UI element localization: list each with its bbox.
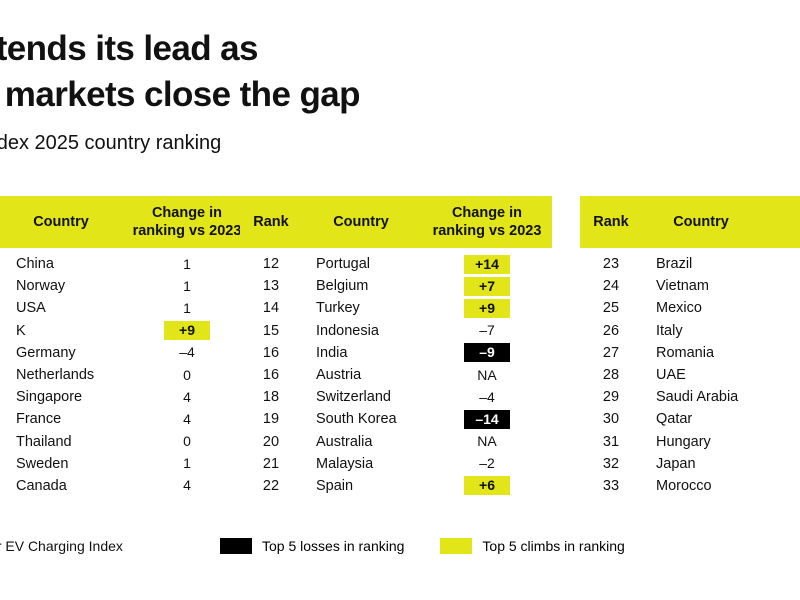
cell-country: Mexico (642, 300, 762, 316)
table-row: Thailand0 (0, 431, 252, 453)
change-badge: +9 (164, 321, 210, 340)
legend-item-climbs: Top 5 climbs in ranking (440, 538, 624, 554)
ranking-table-3: Rank Country Ch rankin 23Brazil24Vietnam… (580, 196, 800, 497)
cell-rank: 27 (580, 345, 642, 361)
cell-rank: 14 (240, 300, 302, 316)
legend-label-losses: Top 5 losses in ranking (262, 538, 404, 554)
cell-country: Malaysia (302, 456, 422, 472)
table-row: 24Vietnam (580, 275, 800, 297)
change-badge: +7 (464, 277, 510, 296)
cell-rank: 13 (240, 278, 302, 294)
cell-rank: 23 (580, 256, 642, 272)
change-value: NA (464, 366, 510, 385)
cell-change: –9 (422, 343, 552, 362)
cell-rank: 30 (580, 411, 642, 427)
column-header-country: Country (642, 213, 762, 231)
table-row: 26Italy (580, 320, 800, 342)
cell-country: Brazil (642, 256, 762, 272)
legend-swatch-losses-icon (220, 538, 252, 554)
cell-country: USA (2, 300, 122, 316)
change-value: 1 (164, 255, 210, 274)
column-header-change-line1: Ch (764, 204, 800, 222)
table-row: USA1 (0, 297, 252, 319)
cell-country: Spain (302, 478, 422, 494)
table-row: China1 (0, 253, 252, 275)
cell-country: UAE (642, 367, 762, 383)
cell-country: Saudi Arabia (642, 389, 762, 405)
cell-change: 0 (122, 366, 252, 385)
table-row: 12Portugal+14 (240, 253, 552, 275)
table-row: 25Mexico (580, 297, 800, 319)
cell-country: Qatar (642, 411, 762, 427)
legend-label-climbs: Top 5 climbs in ranking (482, 538, 624, 554)
cell-country: Austria (302, 367, 422, 383)
cell-change: –2 (422, 454, 552, 473)
table-row: 20AustraliaNA (240, 431, 552, 453)
cell-country: Australia (302, 434, 422, 450)
cell-change: –14 (422, 410, 552, 429)
column-header-change-line1: Change in (424, 204, 550, 222)
table-row: Netherlands0 (0, 364, 252, 386)
cell-country: Turkey (302, 300, 422, 316)
column-header-rank: Rank (240, 213, 302, 231)
table-row: 23Brazil (580, 253, 800, 275)
cell-country: Portugal (302, 256, 422, 272)
subheadline: rging Index 2025 country ranking (0, 132, 800, 155)
table-row: 28UAE (580, 364, 800, 386)
cell-country: Morocco (642, 478, 762, 494)
cell-country: Belgium (302, 278, 422, 294)
cell-rank: 33 (580, 478, 642, 494)
table-body-2: 12Portugal+1413Belgium+714Turkey+915Indo… (240, 253, 552, 497)
cell-change: 1 (122, 255, 252, 274)
table-body-3: 23Brazil24Vietnam25Mexico26Italy27Romani… (580, 253, 800, 497)
column-header-change: Ch rankin (762, 204, 800, 240)
change-value: 0 (164, 366, 210, 385)
cell-change: 4 (122, 476, 252, 495)
column-header-change: Change in ranking vs 2023 (122, 204, 252, 240)
cell-rank: 29 (580, 389, 642, 405)
ranking-tables: Rank Country Change in ranking vs 2023 C… (0, 196, 800, 516)
cell-rank: 20 (240, 434, 302, 450)
legend-swatch-climbs-icon (440, 538, 472, 554)
change-badge: –14 (464, 410, 510, 429)
cell-country: Norway (2, 278, 122, 294)
table-row: 27Romania (580, 342, 800, 364)
cell-rank: 12 (240, 256, 302, 272)
cell-country: Canada (2, 478, 122, 494)
cell-change: –7 (422, 321, 552, 340)
cell-country: Sweden (2, 456, 122, 472)
table-row: 31Hungary (580, 431, 800, 453)
cell-change: +7 (422, 277, 552, 296)
table-row: 30Qatar (580, 408, 800, 430)
cell-rank: 32 (580, 456, 642, 472)
table-row: France4 (0, 408, 252, 430)
source-note: nd Berger EV Charging Index (0, 538, 220, 554)
cell-change: NA (422, 366, 552, 385)
cell-rank: 18 (240, 389, 302, 405)
table-row: 18Switzerland–4 (240, 386, 552, 408)
legend-item-losses: Top 5 losses in ranking (220, 538, 404, 554)
table-row: Canada4 (0, 475, 252, 497)
footer: nd Berger EV Charging Index Top 5 losses… (0, 538, 800, 554)
header-block: a extends its lead as rger markets close… (0, 26, 800, 155)
table-row: 32Japan (580, 453, 800, 475)
change-value: 4 (164, 476, 210, 495)
table-row: Germany–4 (0, 342, 252, 364)
table-row: 33Morocco (580, 475, 800, 497)
change-value: –7 (464, 321, 510, 340)
cell-change: 1 (122, 299, 252, 318)
table-header-row: Rank Country Ch rankin (580, 196, 800, 248)
cell-rank: 16 (240, 345, 302, 361)
table-header-row: Rank Country Change in ranking vs 2023 (240, 196, 552, 248)
change-value: 1 (164, 277, 210, 296)
column-header-change-line1: Change in (124, 204, 250, 222)
cell-rank: 24 (580, 278, 642, 294)
cell-rank: 25 (580, 300, 642, 316)
cell-country: Romania (642, 345, 762, 361)
table-row: Norway1 (0, 275, 252, 297)
column-header-country: Country (302, 213, 422, 231)
cell-change: 1 (122, 277, 252, 296)
cell-change: +9 (122, 321, 252, 340)
table-row: 15Indonesia–7 (240, 320, 552, 342)
ranking-table-1: Rank Country Change in ranking vs 2023 C… (0, 196, 252, 497)
change-value: 1 (164, 299, 210, 318)
change-value: –4 (464, 388, 510, 407)
cell-country: Vietnam (642, 278, 762, 294)
table-row: Singapore4 (0, 386, 252, 408)
change-badge: –9 (464, 343, 510, 362)
cell-country: India (302, 345, 422, 361)
ranking-table-2: Rank Country Change in ranking vs 2023 1… (240, 196, 552, 497)
cell-change: 4 (122, 388, 252, 407)
table-row: 22Spain+6 (240, 475, 552, 497)
change-badge: +9 (464, 299, 510, 318)
cell-rank: 28 (580, 367, 642, 383)
cell-country: Italy (642, 323, 762, 339)
column-header-change-line2: ranking vs 2023 (124, 222, 250, 240)
table-row: 19South Korea–14 (240, 408, 552, 430)
cell-country: Germany (2, 345, 122, 361)
cell-change: –4 (122, 343, 252, 362)
table-row: Sweden1 (0, 453, 252, 475)
table-row: 13Belgium+7 (240, 275, 552, 297)
cell-country: Switzerland (302, 389, 422, 405)
change-value: –4 (164, 343, 210, 362)
cell-country: Japan (642, 456, 762, 472)
change-badge: +6 (464, 476, 510, 495)
cell-rank: 22 (240, 478, 302, 494)
cell-change: –4 (422, 388, 552, 407)
column-header-change-line2: rankin (764, 222, 800, 240)
change-badge: +14 (464, 255, 510, 274)
cell-change: 0 (122, 432, 252, 451)
table-row: 29Saudi Arabia (580, 386, 800, 408)
cell-change: 4 (122, 410, 252, 429)
change-value: 1 (164, 454, 210, 473)
table-row: 16AustriaNA (240, 364, 552, 386)
column-header-country: Country (2, 213, 122, 231)
cell-rank: 21 (240, 456, 302, 472)
cell-rank: 31 (580, 434, 642, 450)
cell-rank: 15 (240, 323, 302, 339)
table-row: 14Turkey+9 (240, 297, 552, 319)
change-value: 0 (164, 432, 210, 451)
cell-country: South Korea (302, 411, 422, 427)
cell-change: +14 (422, 255, 552, 274)
change-value: NA (464, 432, 510, 451)
cell-country: Hungary (642, 434, 762, 450)
change-value: –2 (464, 454, 510, 473)
cell-change: +6 (422, 476, 552, 495)
cell-country: China (2, 256, 122, 272)
headline-line-1: a extends its lead as (0, 26, 800, 72)
cell-country: Netherlands (2, 367, 122, 383)
cell-country: K (2, 323, 122, 339)
cell-rank: 26 (580, 323, 642, 339)
change-value: 4 (164, 410, 210, 429)
cell-country: Thailand (2, 434, 122, 450)
cell-rank: 16 (240, 367, 302, 383)
cell-country: Singapore (2, 389, 122, 405)
cell-country: Indonesia (302, 323, 422, 339)
table-row: K+9 (0, 320, 252, 342)
table-row: 21Malaysia–2 (240, 453, 552, 475)
change-value: 4 (164, 388, 210, 407)
cell-change: NA (422, 432, 552, 451)
table-header-row: Rank Country Change in ranking vs 2023 (0, 196, 252, 248)
cell-change: +9 (422, 299, 552, 318)
table-row: 16India–9 (240, 342, 552, 364)
column-header-rank: Rank (580, 213, 642, 231)
table-body-1: China1Norway1USA1K+9Germany–4Netherlands… (0, 253, 252, 497)
cell-rank: 19 (240, 411, 302, 427)
column-header-change: Change in ranking vs 2023 (422, 204, 552, 240)
headline-line-2: rger markets close the gap (0, 72, 800, 118)
cell-country: France (2, 411, 122, 427)
cell-change: 1 (122, 454, 252, 473)
column-header-change-line2: ranking vs 2023 (424, 222, 550, 240)
